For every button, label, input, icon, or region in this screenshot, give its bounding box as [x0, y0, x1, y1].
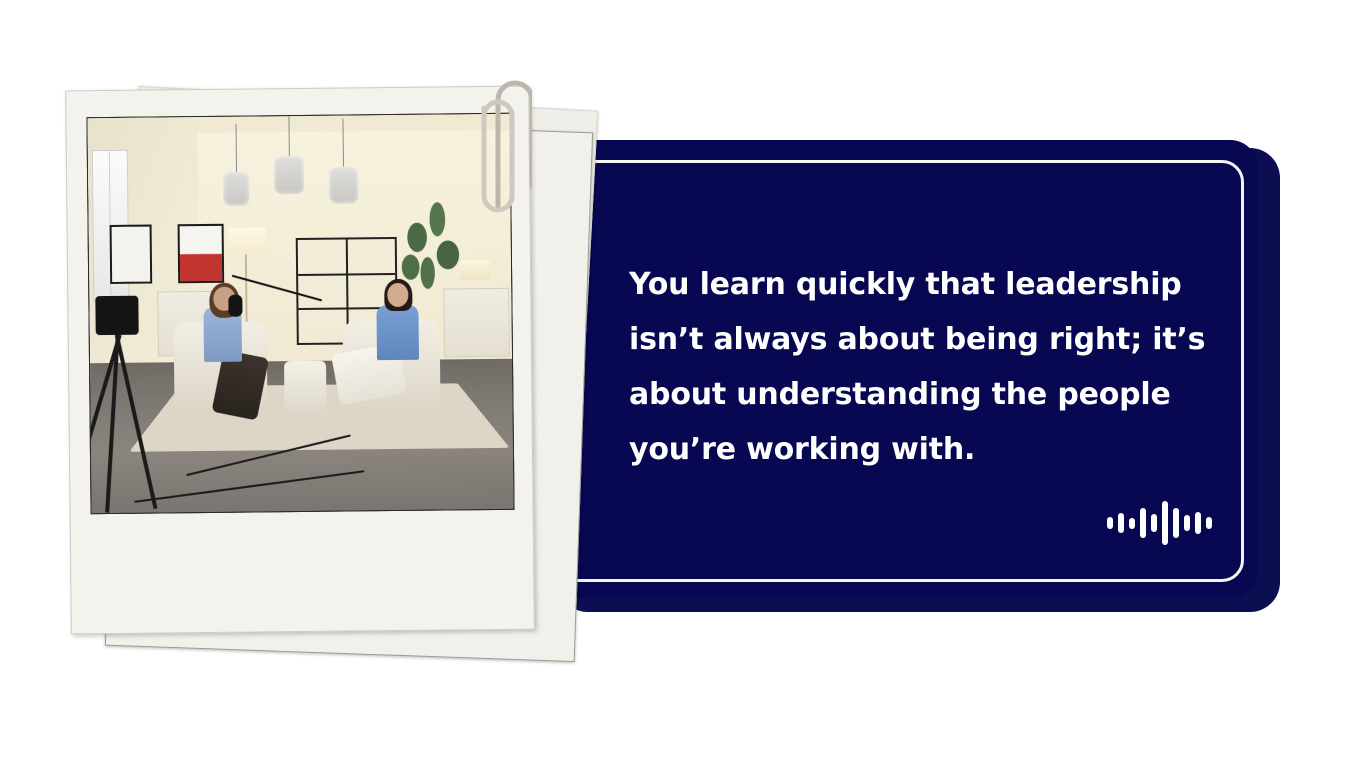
quote-card-body: You learn quickly that leadership isn’t … [540, 140, 1258, 598]
waveform-bar [1151, 514, 1157, 532]
floor-lamp-shade [228, 227, 266, 255]
podcast-studio-photo [86, 113, 514, 514]
quote-card: You learn quickly that leadership isn’t … [540, 140, 1280, 612]
waveform-bar [1140, 508, 1146, 538]
waveform-bar [1118, 513, 1124, 533]
camera-tripod [94, 295, 189, 513]
quote-text: You learn quickly that leadership isn’t … [629, 257, 1199, 477]
waveform-bar [1107, 517, 1113, 529]
quote-line: you’re working with. [629, 422, 1199, 477]
quote-line: You learn quickly that leadership [629, 257, 1199, 312]
person-right-head [387, 283, 408, 307]
waveform-bar [1173, 508, 1179, 538]
photo-scene [87, 114, 513, 513]
dresser-right [444, 288, 510, 358]
waveform-bar [1206, 517, 1212, 529]
waveform-bar [1184, 515, 1190, 531]
framed-poster [177, 223, 224, 283]
microphone-icon [229, 294, 243, 316]
waveform-bar [1195, 512, 1201, 534]
framed-poster [110, 224, 153, 284]
pendant-lamp-icon [329, 167, 358, 204]
round-stool [284, 361, 327, 413]
audio-waveform-icon [1107, 500, 1212, 546]
poster-canvas: You learn quickly that leadership isn’t … [0, 0, 1366, 768]
polaroid-stack [60, 70, 620, 680]
paperclip-icon [462, 68, 532, 213]
waveform-bar [1162, 501, 1168, 545]
person-right-body [376, 304, 419, 360]
camera-icon [95, 295, 138, 335]
tripod-leg [114, 334, 157, 509]
pendant-lamp-icon [223, 172, 249, 206]
pendant-lamp-icon [274, 155, 304, 193]
quote-line: isn’t always about being right; it’s [629, 312, 1199, 367]
quote-line: about understanding the people [629, 367, 1199, 422]
waveform-bar [1129, 518, 1135, 529]
table-lamp [460, 260, 490, 280]
